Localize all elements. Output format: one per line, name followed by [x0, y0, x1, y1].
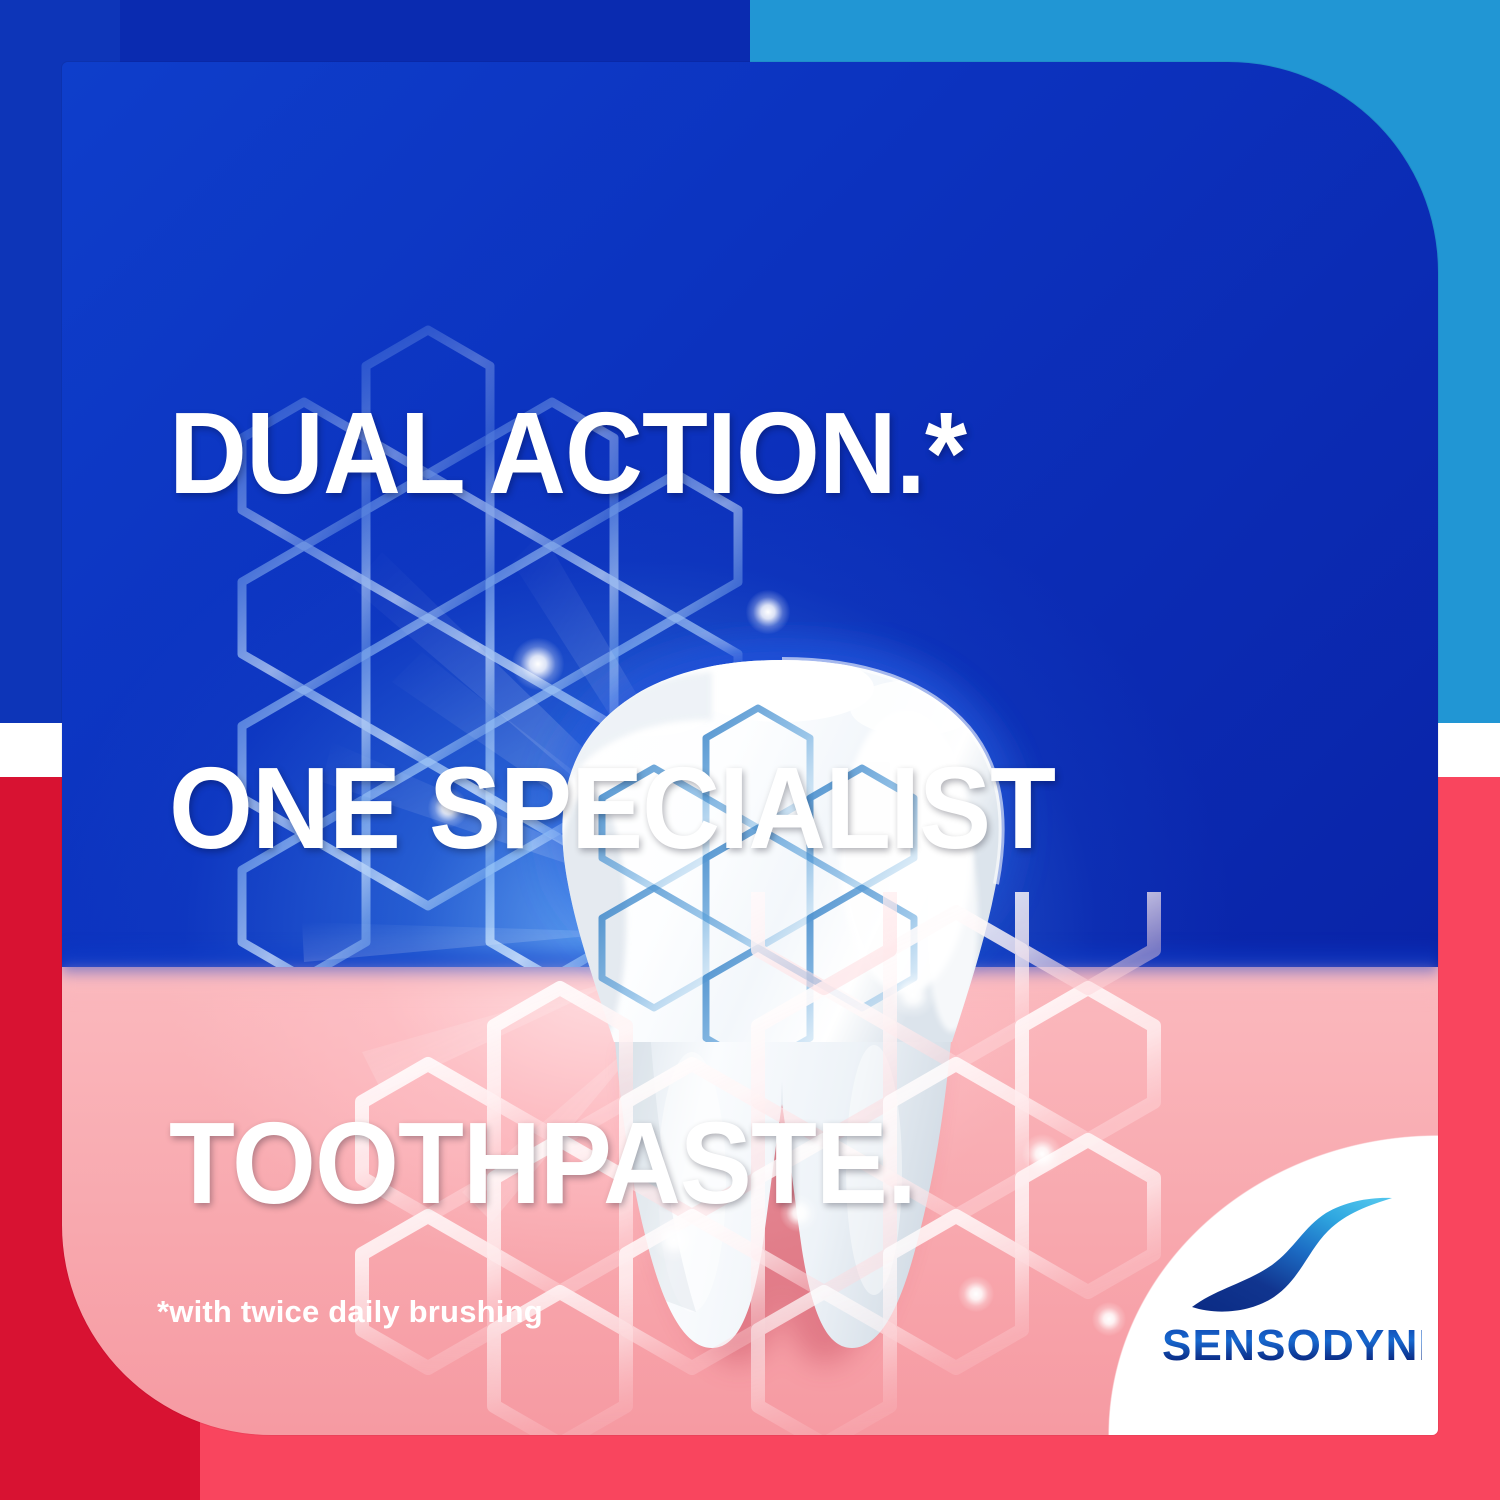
swoosh-icon	[1186, 1187, 1398, 1319]
sensodyne-advertisement: DUAL ACTION.* ONE SPECIALIST TOOTHPASTE.…	[0, 0, 1500, 1500]
ad-card: DUAL ACTION.* ONE SPECIALIST TOOTHPASTE.…	[62, 62, 1438, 1435]
headline-line-3: TOOTHPASTE.	[169, 1104, 1055, 1222]
footnote-disclaimer: *with twice daily brushing	[157, 1294, 543, 1330]
brand-wordmark: SENSODYNE	[1162, 1321, 1422, 1371]
headline-line-1: DUAL ACTION.*	[169, 394, 1055, 512]
brand-logo: SENSODYNE	[1162, 1187, 1422, 1371]
headline: DUAL ACTION.* ONE SPECIALIST TOOTHPASTE.	[169, 157, 1055, 1435]
headline-line-2: ONE SPECIALIST	[169, 749, 1055, 867]
